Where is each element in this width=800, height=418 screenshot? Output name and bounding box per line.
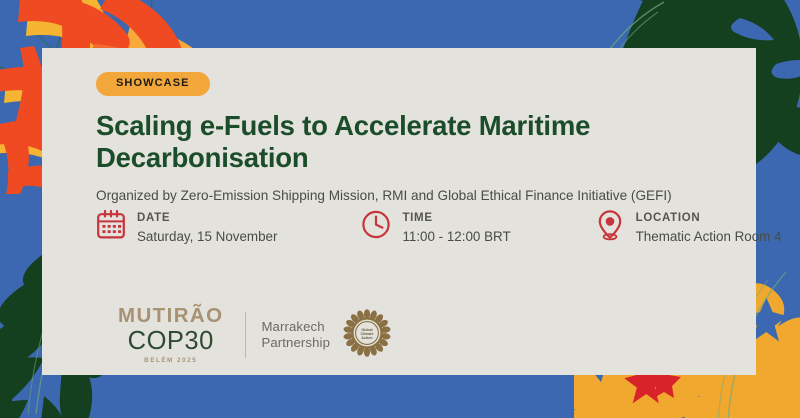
detail-time-label: TIME — [402, 212, 432, 224]
event-details-row: DATE Saturday, 15 November TIME 11:00 - … — [96, 208, 782, 247]
detail-date: DATE Saturday, 15 November — [96, 208, 277, 246]
detail-time: TIME 11:00 - 12:00 BRT — [361, 208, 510, 246]
event-title: Scaling e-Fuels to Accelerate Maritime D… — [96, 110, 706, 174]
detail-date-label: DATE — [137, 212, 170, 224]
logo-strip: MUTIRÃO COP30 BELÉM 2025 Marrakech Partn… — [118, 306, 391, 364]
cop30-logo: MUTIRÃO COP30 BELÉM 2025 — [118, 306, 223, 364]
cop30-belem-text: BELÉM 2025 — [144, 358, 197, 364]
detail-location: LOCATION Thematic Action Room 4 — [595, 208, 782, 247]
detail-location-value: Thematic Action Room 4 — [636, 228, 782, 246]
logo-divider — [245, 312, 246, 358]
card-content: SHOWCASE Scaling e-Fuels to Accelerate M… — [96, 72, 732, 205]
location-pin-icon — [595, 209, 625, 247]
global-climate-action-rosette-icon: Global Climate Action — [343, 309, 391, 362]
cop30-mutirao-text: MUTIRÃO — [118, 306, 223, 327]
detail-date-text: DATE Saturday, 15 November — [137, 208, 277, 246]
event-organizers: Organized by Zero-Emission Shipping Miss… — [96, 187, 732, 205]
detail-date-value: Saturday, 15 November — [137, 228, 277, 246]
detail-location-label: LOCATION — [636, 212, 701, 224]
clock-icon — [361, 209, 391, 245]
showcase-badge: SHOWCASE — [96, 72, 210, 96]
detail-time-value: 11:00 - 12:00 BRT — [402, 228, 510, 246]
poster-canvas: SHOWCASE Scaling e-Fuels to Accelerate M… — [0, 0, 800, 418]
marrakech-partnership-text: Marrakech Partnership — [261, 319, 330, 352]
cop30-text: COP30 — [128, 329, 214, 355]
rosette-line-3: Action — [361, 336, 372, 340]
marrakech-line-1: Marrakech — [261, 319, 330, 336]
detail-location-text: LOCATION Thematic Action Room 4 — [636, 208, 782, 246]
detail-time-text: TIME 11:00 - 12:00 BRT — [402, 208, 510, 246]
calendar-icon — [96, 209, 126, 245]
marrakech-line-2: Partnership — [261, 335, 330, 352]
